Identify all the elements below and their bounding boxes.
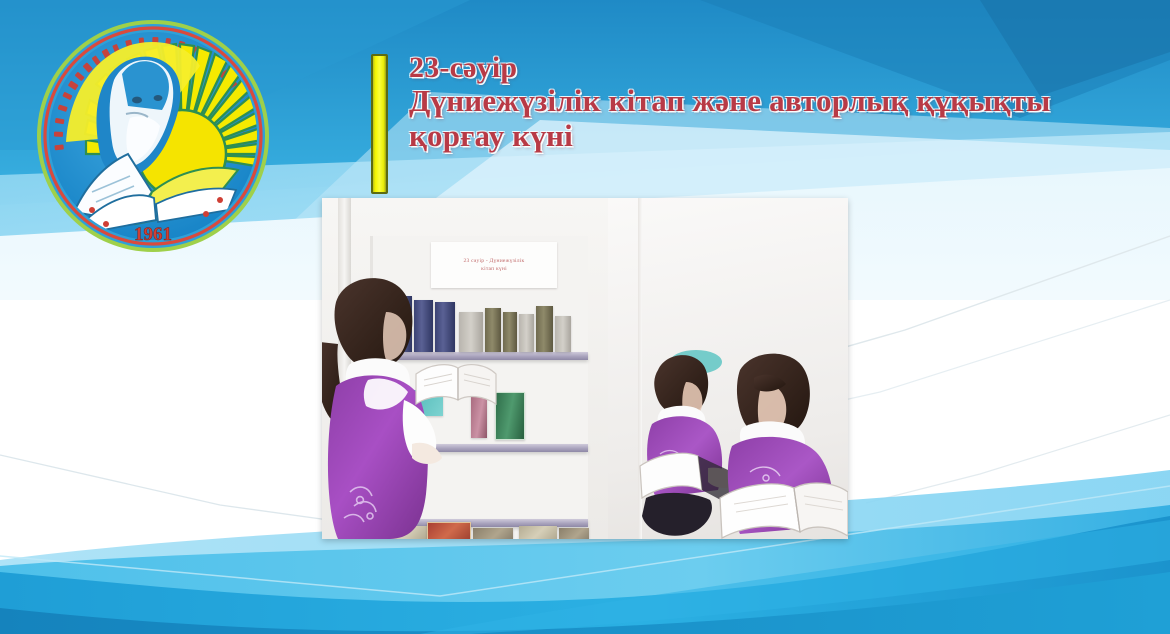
book-spine [555, 316, 571, 352]
poster-line-2: кітап күні [481, 265, 507, 273]
title-accent-bar [371, 54, 388, 194]
school-emblem-logo: 1961 [30, 14, 276, 258]
poster-line-1: 23 сәуір - Дүниежүзілік [464, 257, 525, 265]
students-reading-seated [636, 348, 848, 539]
book-spine [459, 312, 483, 352]
emblem-year: 1961 [134, 224, 172, 245]
book-spine [503, 312, 517, 352]
book-spine [536, 306, 553, 352]
flat-book [559, 528, 589, 539]
title-text-group: 23-сәуір Дүниежүзілік кітап және авторлы… [409, 52, 1051, 153]
event-photo: 23 сәуір - Дүниежүзілік кітап күні [322, 198, 848, 539]
title-line-main-2: қорғау күні [409, 120, 1051, 152]
exhibition-poster: 23 сәуір - Дүниежүзілік кітап күні [431, 242, 557, 288]
slide-title-block: 23-сәуір Дүниежүзілік кітап және авторлы… [371, 52, 1051, 194]
photo-panel-left: 23 сәуір - Дүниежүзілік кітап күні [322, 198, 608, 539]
book-spine [519, 314, 534, 352]
photo-panel-right [608, 198, 848, 539]
flat-book [473, 528, 513, 539]
open-book-held [414, 360, 498, 412]
flat-book [519, 526, 557, 539]
title-line-date: 23-сәуір [409, 52, 1051, 83]
title-line-main: Дүниежүзілік кітап және авторлық құқықты [409, 85, 1051, 117]
presentation-slide: 1961 23-сәуір Дүниежүзілік кітап және ав… [0, 0, 1170, 634]
display-book-green [495, 392, 525, 440]
book-spine [485, 308, 501, 352]
